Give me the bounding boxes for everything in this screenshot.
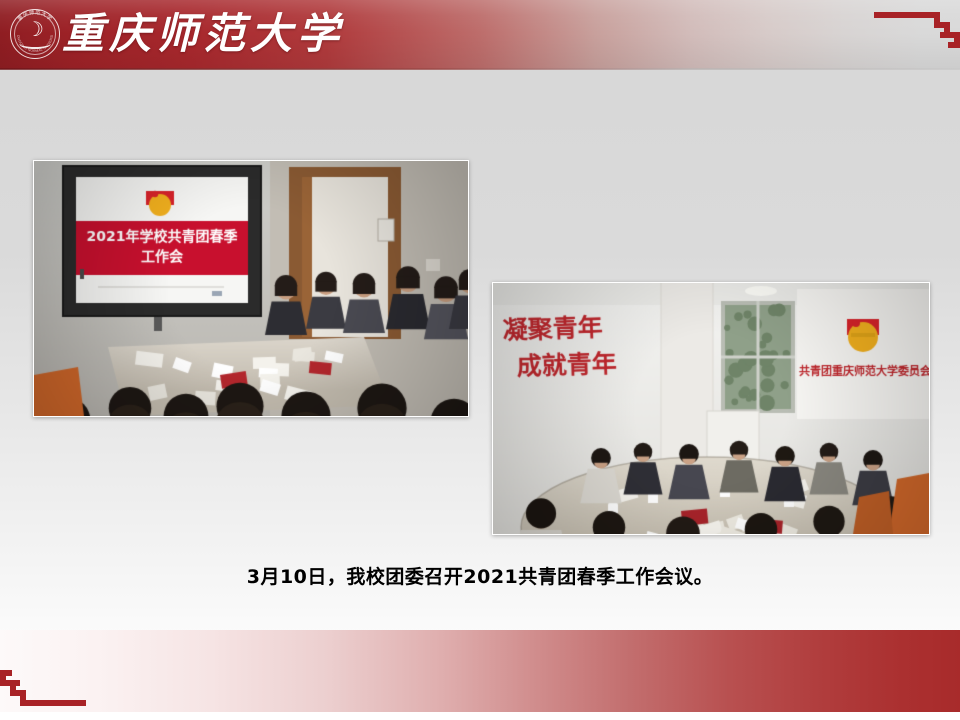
university-logo: 重庆师范大学 CHONGQING NORMAL UNIVERSITY ☽ <box>6 5 64 63</box>
footer-bottom-strip <box>0 712 960 720</box>
university-name-title: 重庆师范大学 <box>62 4 344 64</box>
seal-book-shape <box>19 38 51 49</box>
slide-root: 重庆师范大学 CHONGQING NORMAL UNIVERSITY ☽ 重庆师… <box>0 0 960 720</box>
photo-meeting-classroom[interactable] <box>33 160 469 417</box>
slide-caption: 3月10日，我校团委召开2021共青团春季工作会议。 <box>0 562 960 589</box>
photo-conference-room[interactable] <box>492 282 930 535</box>
footer-band <box>0 630 960 712</box>
photo-conference-room-canvas <box>493 283 929 534</box>
header-underline-divider <box>0 68 960 70</box>
photo-meeting-classroom-canvas <box>34 161 468 416</box>
